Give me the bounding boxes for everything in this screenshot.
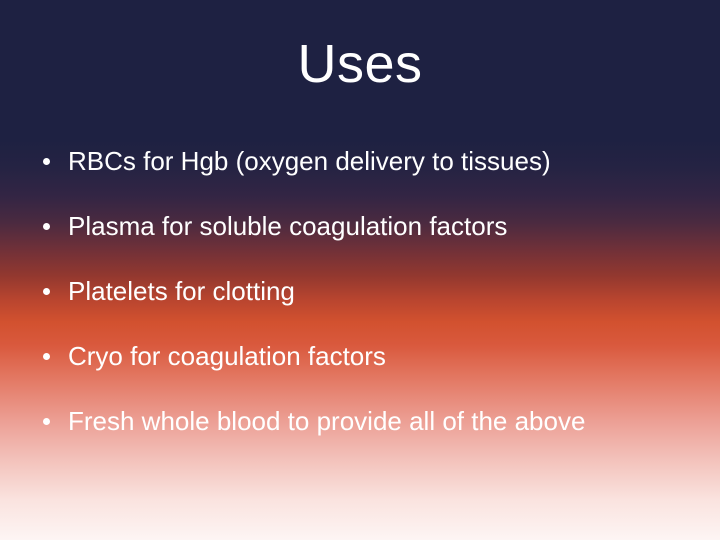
bullet-text: Cryo for coagulation factors [68, 340, 386, 372]
bullet-list: RBCs for Hgb (oxygen delivery to tissues… [0, 128, 720, 453]
bullet-dot-icon [43, 158, 50, 165]
bullet-text: Platelets for clotting [68, 275, 295, 307]
presentation-slide: Uses RBCs for Hgb (oxygen delivery to ti… [0, 0, 720, 540]
list-item: Cryo for coagulation factors [0, 323, 720, 388]
bullet-text: Fresh whole blood to provide all of the … [68, 405, 585, 437]
list-item: Fresh whole blood to provide all of the … [0, 388, 720, 453]
bullet-text: Plasma for soluble coagulation factors [68, 210, 507, 242]
list-item: RBCs for Hgb (oxygen delivery to tissues… [0, 128, 720, 193]
bullet-dot-icon [43, 353, 50, 360]
list-item: Platelets for clotting [0, 258, 720, 323]
list-item: Plasma for soluble coagulation factors [0, 193, 720, 258]
bullet-dot-icon [43, 418, 50, 425]
bullet-text: RBCs for Hgb (oxygen delivery to tissues… [68, 145, 551, 177]
slide-title: Uses [0, 32, 720, 96]
bullet-dot-icon [43, 223, 50, 230]
bullet-dot-icon [43, 288, 50, 295]
